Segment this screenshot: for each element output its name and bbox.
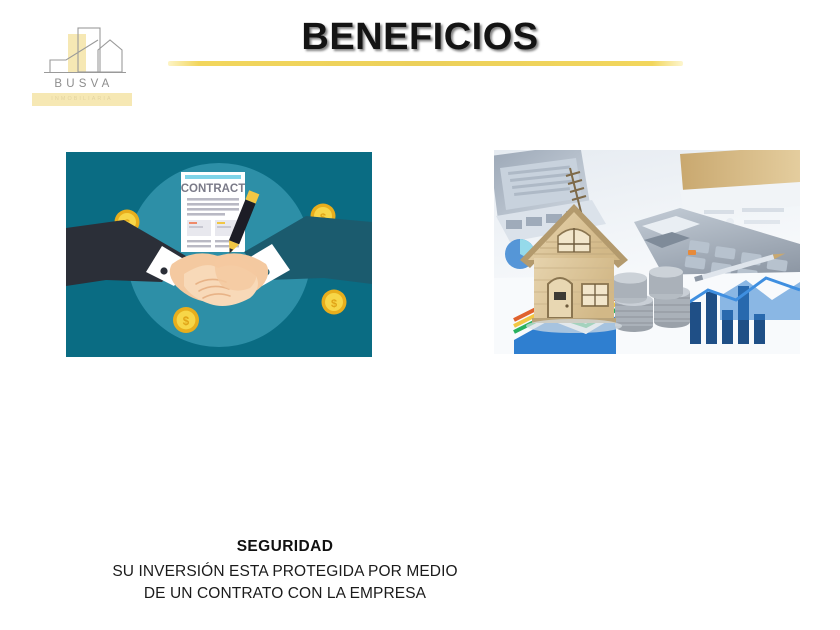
benefit-card-ahorro: AHORRO PRECIOS MUY POR DE BAJO DEL VALOR… — [494, 150, 800, 354]
benefit-card-seguridad: CONTRACT — [66, 152, 372, 357]
page-title: BENEFICIOS — [0, 16, 840, 59]
svg-text:$: $ — [331, 298, 337, 310]
logo-tagline: INMOBILIARIA — [32, 93, 132, 106]
svg-text:CONTRACT: CONTRACT — [181, 183, 246, 195]
house-model-coins-calculator-photo — [494, 150, 800, 354]
benefit-heading: SEGURIDAD — [105, 538, 465, 556]
logo-wordmark: BUSVA — [28, 78, 136, 90]
title-underline-rule — [168, 61, 683, 66]
benefit-body: SU INVERSIÓN ESTA PROTEGIDA POR MEDIO DE… — [105, 561, 465, 605]
benefit-caption-seguridad: SEGURIDAD SU INVERSIÓN ESTA PROTEGIDA PO… — [105, 538, 465, 605]
handshake-contract-illustration: CONTRACT — [66, 152, 372, 357]
svg-text:$: $ — [183, 316, 190, 328]
slide-header: BUSVA INMOBILIARIA BENEFICIOS — [0, 0, 840, 120]
